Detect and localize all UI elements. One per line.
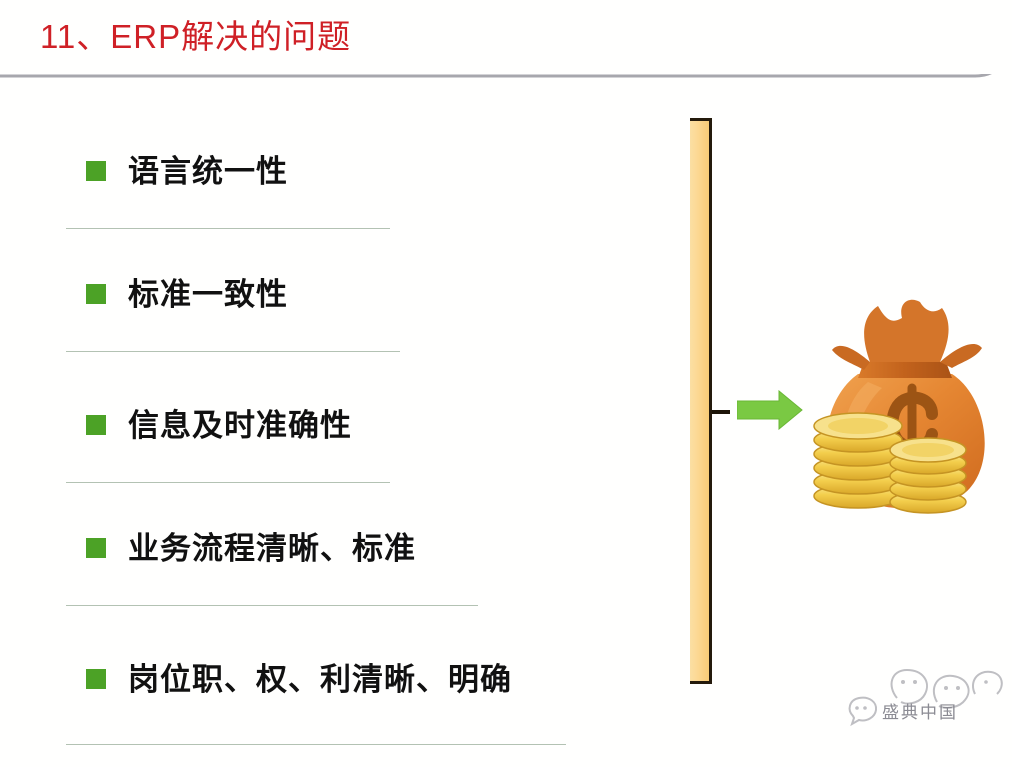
list-separator [66, 351, 400, 352]
list-item-label: 信息及时准确性 [128, 410, 352, 441]
spacer [66, 722, 606, 744]
header-divider [0, 74, 1012, 120]
coin-stack-left [814, 413, 902, 508]
list-separator [66, 482, 390, 483]
watermark-label: 盛典中国 [882, 698, 958, 723]
spacer [66, 483, 606, 505]
bullet-list: 语言统一性 标准一致性 信息及时准确性 业务流程清晰、标准 岗位职、权、利清晰、… [66, 128, 606, 745]
bullet-square-icon [86, 538, 106, 558]
spacer [66, 337, 606, 351]
list-item[interactable]: 语言统一性 [66, 128, 606, 214]
spacer [66, 229, 606, 251]
page-title: 11、ERP解决的问题 [40, 16, 351, 59]
right-arrow-icon [737, 390, 803, 430]
bar-tick-mark [712, 410, 730, 414]
list-separator [66, 605, 478, 606]
bullet-square-icon [86, 415, 106, 435]
list-separator [66, 744, 566, 745]
slide-canvas: 11、ERP解决的问题 语言统一性 标准一致性 信息及时准确性 业务流程清晰、标… [0, 0, 1012, 767]
bullet-square-icon [86, 669, 106, 689]
list-item-label: 标准一致性 [128, 279, 288, 310]
list-item[interactable]: 信息及时准确性 [66, 382, 606, 468]
list-item[interactable]: 业务流程清晰、标准 [66, 505, 606, 591]
bullet-square-icon [86, 284, 106, 304]
spacer [66, 352, 606, 382]
spacer [66, 214, 606, 228]
list-separator [66, 228, 390, 229]
list-item-label: 语言统一性 [128, 156, 288, 187]
spacer [66, 591, 606, 605]
coin-stack-right [890, 438, 966, 513]
list-item[interactable]: 岗位职、权、利清晰、明确 [66, 636, 606, 722]
spacer [66, 606, 606, 636]
vertical-bracket-bar [690, 118, 712, 684]
list-item[interactable]: 标准一致性 [66, 251, 606, 337]
list-item-label: 岗位职、权、利清晰、明确 [128, 664, 512, 695]
spacer [66, 468, 606, 482]
money-bag-icon [806, 296, 1002, 530]
bullet-square-icon [86, 161, 106, 181]
list-item-label: 业务流程清晰、标准 [128, 533, 416, 564]
